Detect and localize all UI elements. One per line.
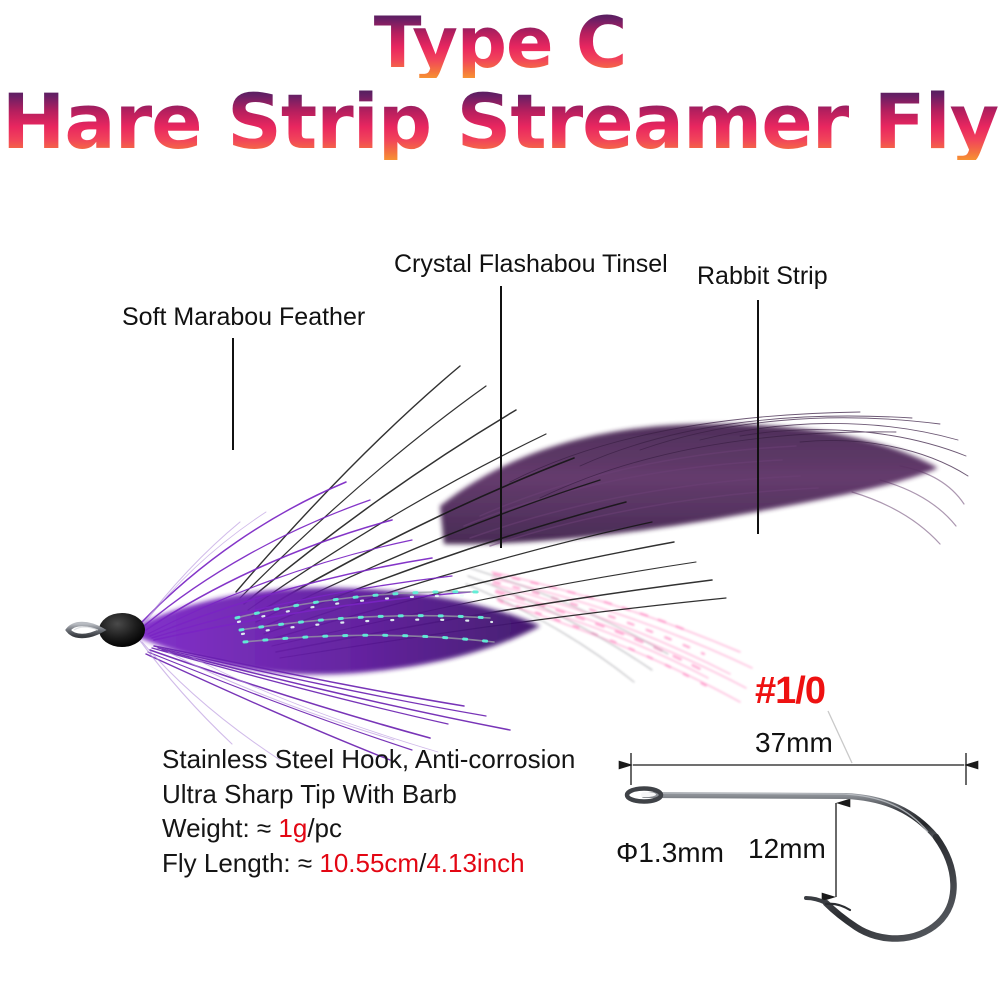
spec-length-cm: 10.55cm: [319, 848, 419, 878]
hook-eye: [68, 624, 102, 636]
rabbit-strip: [440, 412, 968, 546]
spec-weight: Weight: ≈ 1g/pc: [162, 811, 622, 846]
page-title-line-1: Type C: [0, 8, 1000, 78]
specifications-block: Stainless Steel Hook, Anti-corrosion Ult…: [162, 742, 622, 880]
hook-highlight: [660, 793, 928, 832]
product-infographic: Type C Hare Strip Streamer Fly: [0, 0, 1000, 1000]
hook-drawing: [600, 655, 1000, 955]
callout-label-rabbit-strip: Rabbit Strip: [697, 262, 828, 291]
spec-length-label: Fly Length: ≈: [162, 848, 319, 878]
leader-line-marabou: [232, 338, 234, 450]
page-title-line-2: Hare Strip Streamer Fly: [0, 84, 1000, 160]
spec-weight-value: 1g: [278, 813, 307, 843]
spec-length-inch: 4.13inch: [426, 848, 524, 878]
leader-line-rabbit-strip: [757, 300, 759, 534]
hook-diagram-panel: #1/0 37mm 12mm Φ1.3mm: [600, 655, 1000, 955]
length-dimension: [631, 753, 966, 785]
spec-length: Fly Length: ≈ 10.55cm/4.13inch: [162, 846, 622, 881]
leader-line-tinsel: [500, 286, 502, 548]
hook-point: [806, 898, 826, 903]
spec-material: Stainless Steel Hook, Anti-corrosion: [162, 742, 622, 777]
spec-tip: Ultra Sharp Tip With Barb: [162, 777, 622, 812]
hook-shank: [644, 795, 936, 837]
title-block: Type C Hare Strip Streamer Fly: [0, 8, 1000, 160]
callout-label-tinsel: Crystal Flashabou Tinsel: [394, 250, 668, 279]
spec-weight-label: Weight: ≈: [162, 813, 278, 843]
spec-weight-suffix: /pc: [307, 813, 342, 843]
hook-size-leader: [828, 711, 852, 763]
hook-bend: [826, 837, 954, 939]
callout-label-marabou: Soft Marabou Feather: [122, 303, 365, 332]
